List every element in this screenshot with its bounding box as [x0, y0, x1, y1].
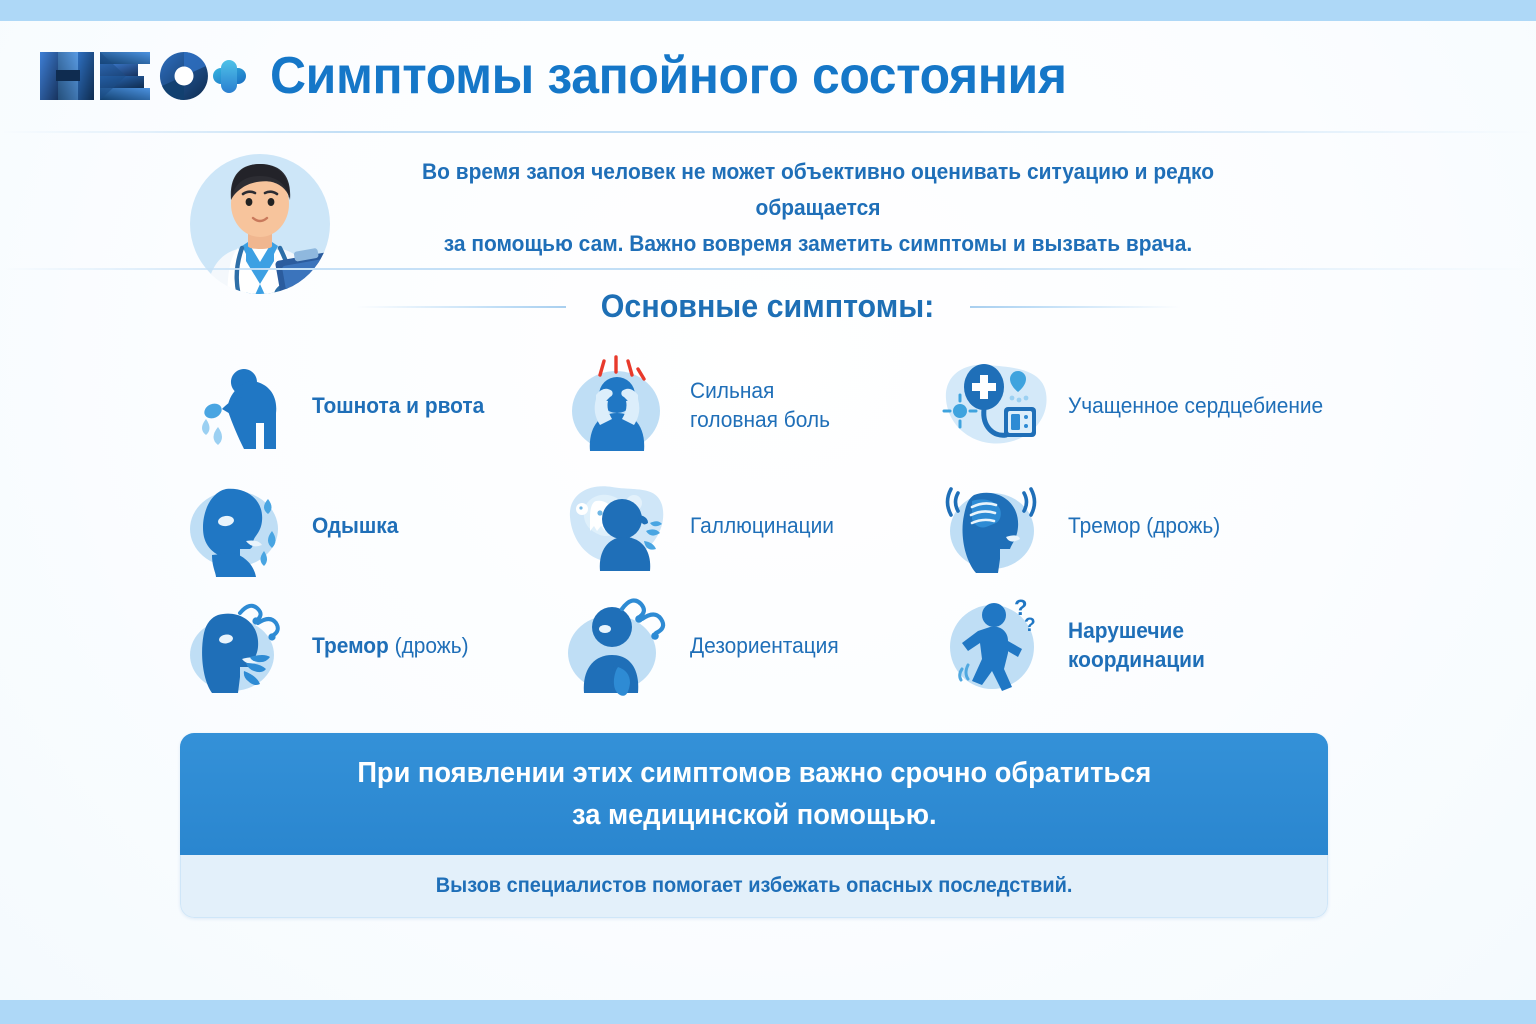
- symptom-label: Учащенное сердцебиение: [1068, 391, 1323, 420]
- symptom-label: Одышка: [312, 511, 398, 540]
- symptoms-grid: Тошнота и рвота: [176, 345, 1360, 705]
- disorientation-icon: [560, 593, 676, 697]
- tremor-head-hands-icon: [938, 473, 1054, 577]
- symptom-item: Галлюцинации: [546, 473, 916, 577]
- symptom-label: Нарушечие координации: [1068, 616, 1205, 674]
- section-heading: Основные симптомы:: [0, 288, 1536, 325]
- heading-rule-right: [970, 306, 1180, 308]
- symptom-item: Учащенное сердцебиение: [916, 353, 1360, 457]
- hallucination-ghost-icon: [560, 473, 676, 577]
- symptom-label-line-1: Нарушечие: [1068, 618, 1184, 643]
- coordination-loss-walking-icon: ? ?: [938, 593, 1054, 697]
- headache-person-icon: [560, 353, 676, 457]
- symptom-item: ? ? Нарушечие координации: [916, 593, 1360, 697]
- banner-main-line-2: за медицинской помощью.: [572, 799, 937, 831]
- neo-plus-logo-icon: [34, 44, 246, 108]
- banner-sub-prefix: Вызов специалистов помогает избежать: [436, 874, 846, 897]
- symptom-item: Дезориентация: [546, 593, 916, 697]
- page-title: Симптомы запойного состояния: [270, 46, 1067, 106]
- symptom-item: Тошнота и рвота: [176, 353, 546, 457]
- vomiting-person-icon: [182, 353, 298, 457]
- symptom-item: Одышка: [176, 473, 546, 577]
- symptom-item: Тремор (дрожь): [916, 473, 1360, 577]
- svg-text:?: ?: [1024, 615, 1036, 636]
- heading-rule-left: [356, 306, 566, 308]
- symptom-label: Тремор (дрожь): [312, 631, 469, 660]
- shortness-of-breath-icon: [182, 473, 298, 577]
- call-to-action-banner: При появлении этих симптомов важно срочн…: [180, 733, 1328, 918]
- symptom-item: Тремор (дрожь): [176, 593, 546, 697]
- symptom-label: Дезориентация: [690, 631, 839, 660]
- banner-sub-bold: опасных последствий.: [846, 874, 1072, 897]
- symptom-label-bold: Тремор: [312, 633, 395, 658]
- blood-pressure-monitor-icon: [938, 353, 1054, 457]
- banner-main: При появлении этих симптомов важно срочн…: [180, 733, 1328, 855]
- symptom-label: Галлюцинации: [690, 511, 834, 540]
- bottom-edge-bar: [0, 1000, 1536, 1024]
- banner-sub-text: Вызов специалистов помогает избежать опа…: [436, 872, 1073, 900]
- banner-sub: Вызов специалистов помогает избежать опа…: [180, 855, 1328, 918]
- infographic-page: Симптомы запойного состояния: [0, 0, 1536, 1024]
- symptom-label-line-1: Сильная: [690, 378, 774, 403]
- doctor-avatar-icon: [176, 138, 344, 306]
- section-heading-title: Основные симптомы:: [601, 288, 935, 325]
- symptom-label-line-2: головная боль: [690, 407, 830, 432]
- intro-line-1: Во время запоя человек не может объектив…: [362, 154, 1273, 226]
- symptom-label: Сильная головная боль: [690, 376, 830, 434]
- banner-main-line-1: При появлении этих симптомов важно срочн…: [357, 757, 1151, 789]
- intro-text: Во время запоя человек не может объектив…: [362, 154, 1273, 262]
- tremor-shaking-icon: [182, 593, 298, 697]
- symptom-label: Тремор (дрожь): [1068, 511, 1220, 540]
- top-edge-bar: [0, 0, 1536, 21]
- header: Симптомы запойного состояния: [0, 21, 1536, 131]
- symptom-item: Сильная головная боль: [546, 353, 916, 457]
- intro-block: Во время запоя человек не может объектив…: [176, 136, 1356, 266]
- symptom-label-thin: (дрожь): [395, 633, 469, 658]
- intro-line-2: за помощью сам. Важно вовремя заметить с…: [362, 226, 1273, 262]
- symptom-label-line-2: координации: [1068, 647, 1205, 672]
- symptom-label: Тошнота и рвота: [312, 391, 484, 420]
- intro-divider: [0, 268, 1536, 270]
- banner-main-text: При появлении этих симптомов важно срочн…: [357, 752, 1151, 836]
- header-divider: [0, 131, 1536, 133]
